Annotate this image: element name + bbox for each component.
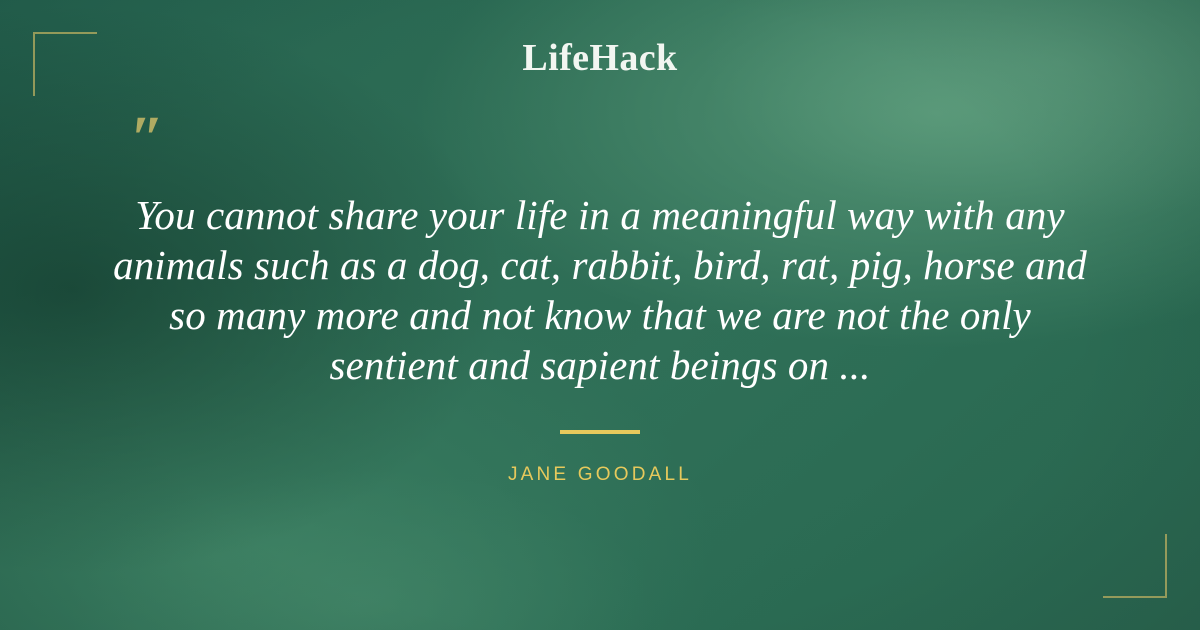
- quote-text: You cannot share your life in a meaningf…: [100, 190, 1100, 390]
- quote-block: ″ You cannot share your life in a meanin…: [100, 118, 1100, 390]
- brand-logo: LifeHack: [0, 36, 1200, 80]
- quote-mark-icon: ″: [130, 118, 1100, 170]
- quote-card: LifeHack ″ You cannot share your life in…: [0, 0, 1200, 630]
- quote-line: animals such as a dog, cat, rabbit, bird…: [100, 240, 1100, 290]
- quote-line: sentient and sapient beings on ...: [100, 340, 1100, 390]
- attribution-author: JANE GOODALL: [0, 464, 1200, 486]
- quote-line: You cannot share your life in a meaningf…: [100, 190, 1100, 240]
- attribution-divider: [560, 430, 640, 434]
- attribution-block: JANE GOODALL: [0, 430, 1200, 486]
- corner-bracket-bottom-right-icon: [1103, 534, 1167, 598]
- quote-line: so many more and not know that we are no…: [100, 290, 1100, 340]
